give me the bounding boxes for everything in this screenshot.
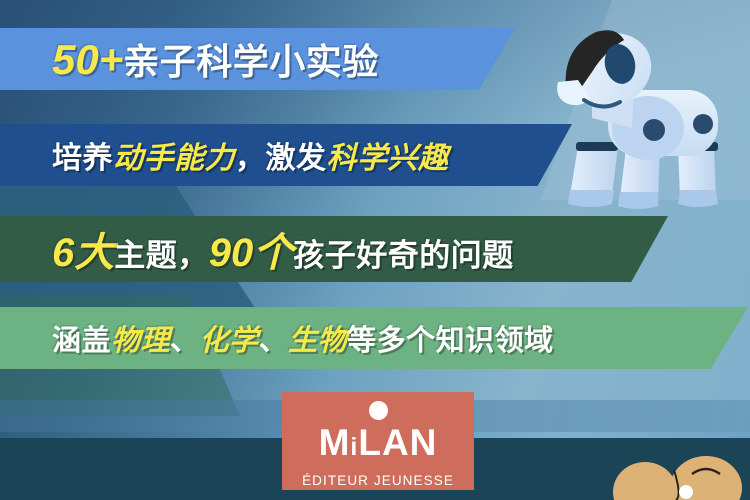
logo-name: MiLAN	[319, 424, 438, 461]
headline-2-highlight-1: 动手能力	[113, 142, 235, 175]
headline-banner-3: 6大主题，90个孩子好奇的问题	[0, 216, 668, 282]
headline-2-part-2: ，激发	[235, 142, 327, 175]
milan-publisher-logo: MiLAN ÉDITEUR JEUNESSE	[282, 392, 474, 490]
headline-1-number: 50+	[52, 36, 123, 83]
headline-4-highlight-3: 生物	[288, 325, 347, 357]
headline-banner-2: 培养动手能力，激发科学兴趣	[0, 124, 572, 186]
headline-2-part-1: 培养	[52, 142, 113, 175]
headline-1-rest: 亲子科学小实验	[123, 41, 379, 82]
headline-4-sep-1: 、	[170, 325, 200, 357]
headline-3-part-2: 孩子好奇的问题	[293, 238, 514, 273]
headline-3-number-2: 90个	[209, 231, 294, 275]
headline-4-part-1: 涵盖	[52, 325, 111, 357]
headline-text-4: 涵盖物理、化学、生物等多个知识领域	[52, 317, 554, 359]
headline-4-sep-2: 、	[259, 325, 289, 357]
headline-text-1: 50+亲子科学小实验	[52, 33, 379, 85]
headline-2-highlight-2: 科学兴趣	[327, 142, 449, 175]
logo-dot-icon	[369, 401, 388, 420]
children-heads-illustration	[600, 452, 750, 500]
headline-4-highlight-2: 化学	[200, 325, 259, 357]
logo-name-m: M	[319, 422, 351, 463]
headline-text-3: 6大主题，90个孩子好奇的问题	[52, 220, 514, 278]
headline-4-highlight-1: 物理	[111, 325, 170, 357]
headline-3-number-1: 6大	[52, 231, 114, 275]
headline-text-2: 培养动手能力，激发科学兴趣	[52, 133, 449, 177]
poster-canvas: 50+亲子科学小实验 培养动手能力，激发科学兴趣 6大主题，90个孩子好奇的问题…	[0, 0, 750, 500]
logo-tagline: ÉDITEUR JEUNESSE	[302, 473, 454, 488]
headline-banner-4: 涵盖物理、化学、生物等多个知识领域	[0, 307, 748, 369]
logo-name-rest: LAN	[358, 422, 437, 463]
robot-dog-illustration	[548, 18, 748, 233]
headline-3-part-1: 主题，	[114, 238, 209, 273]
headline-banner-1: 50+亲子科学小实验	[0, 28, 515, 90]
headline-4-part-2: 等多个知识领域	[347, 325, 554, 357]
